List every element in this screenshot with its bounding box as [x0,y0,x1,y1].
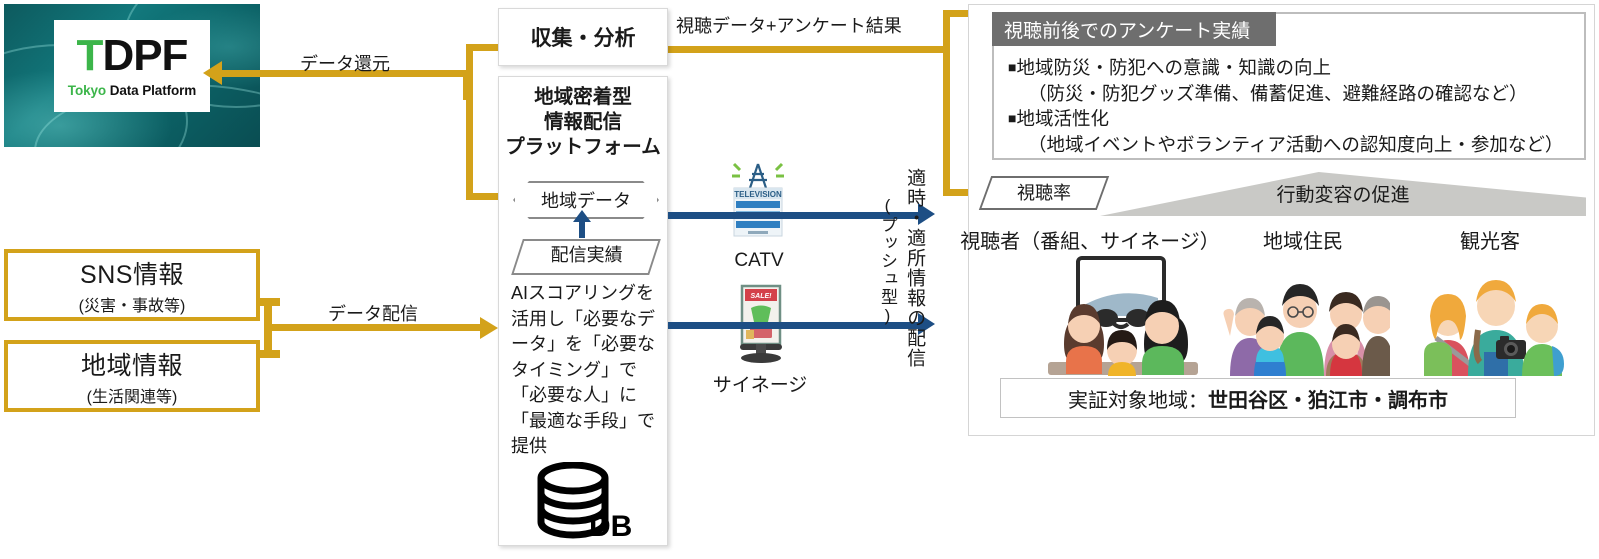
sns-information-box: SNS情報 (災害・事故等) [4,249,260,321]
tourists-illustration [1416,268,1568,378]
target-area-prefix: 実証対象地域： [1068,384,1208,413]
source-bracket-top [260,298,280,306]
survey-bullet-2-detail: （地域イベントやボランティア活動への認知度向上・参加など） [1008,133,1576,158]
push-paren-text: (プッシュ型) [878,196,896,326]
catv-icon: TELEVISION [722,158,794,244]
tdpf-wordmark: TDPF [77,34,188,78]
data-distribution-arrowhead [480,317,498,339]
tourists-group-label: 観光客 [1420,225,1560,254]
data-return-label: データ還元 [300,50,390,76]
platform-title: 地域密着型 情報配信 プラットフォーム [499,85,667,160]
survey-bullet-1-head: ■地域防災・防犯への意識・知識の向上 [1008,56,1576,81]
catv-label: CATV [700,250,818,272]
sns-information-subtitle: (災害・事故等) [79,292,186,316]
data-return-corner [463,70,470,100]
platform-title-line-2: 情報配信 [499,110,667,135]
collect-analyze-box: 収集・分析 [498,8,668,66]
platform-box: 地域密着型 情報配信 プラットフォーム 地域データ 配信実績 AIスコアリングを… [498,76,668,546]
database-icon: DB [529,462,641,540]
survey-results-box: 視聴前後でのアンケート実績 ■地域防災・防犯への意識・知識の向上 （防災・防犯グ… [992,12,1586,160]
source-bracket-bottom [260,350,280,358]
target-area-value: 世田谷区・狛江市・調布市 [1208,384,1448,413]
viewing-data-line [662,46,950,53]
tdpf-letters-dpf: DPF [102,31,187,80]
platform-title-line-1: 地域密着型 [499,85,667,110]
tdpf-subtitle-tokyo: Tokyo [68,83,106,98]
push-type-text-block: 適時・適所情報の配信 (プッシュ型) [874,168,938,400]
ai-scoring-text: AIスコアリングを活用し「必要なデータ」を「必要なタイミング」で「必要な人」に「… [511,281,655,460]
survey-tag-label: 視聴前後でのアンケート実績 [992,12,1276,46]
tdpf-letter-t: T [77,31,103,80]
regional-information-box: 地域情報 (生活関連等) [4,340,260,412]
target-area-box: 実証対象地域：世田谷区・狛江市・調布市 [1000,378,1516,418]
tdpf-logo-card: TDPF Tokyo Data Platform [54,20,210,112]
viewing-data-vertical [943,46,950,196]
behavior-change-banner: 行動変容の促進 [1100,172,1586,216]
viewing-data-label: 視聴データ+アンケート結果 [676,12,902,38]
survey-bullets: ■地域防災・防犯への意識・知識の向上 （防災・防犯グッズ準備、備蓄促進、避難経路… [1008,56,1576,158]
tdpf-subtitle: Tokyo Data Platform [68,83,196,98]
collect-analyze-label: 収集・分析 [531,22,636,52]
survey-bullet-2-head: ■地域活性化 [1008,107,1576,132]
push-main-text: 適時・適所情報の配信 [904,168,924,368]
survey-bullet-1-text: 地域防災・防犯への意識・知識の向上 [1016,57,1331,78]
viewers-illustration [1026,252,1216,378]
behavior-change-label: 行動変容の促進 [1100,180,1586,207]
regional-information-title: 地域情報 [81,346,183,382]
delivery-record-parallelogram: 配信実績 [511,239,661,275]
tdpf-subtitle-dataplatform: Data Platform [106,83,196,98]
platform-title-line-3: プラットフォーム [499,135,667,160]
signage-label: サイネージ [690,370,830,397]
data-distribution-label: データ配信 [328,300,418,326]
data-return-arrowhead [203,61,222,85]
survey-bullet-1-detail: （防災・防犯グッズ準備、備蓄促進、避難経路の確認など） [1008,82,1576,107]
survey-bullet-2-text: 地域活性化 [1016,108,1109,129]
data-return-segment-mid [466,193,500,200]
viewing-rate-parallelogram: 視聴率 [979,176,1109,210]
database-label: DB [589,510,632,540]
regional-information-subtitle: (生活関連等) [87,383,178,407]
local-residents-group-label: 地域住民 [1228,225,1378,254]
delivery-record-label: 配信実績 [520,241,654,269]
diagram-canvas: TDPF Tokyo Data Platform SNS情報 (災害・事故等) … [0,0,1599,559]
viewing-rate-label: 視聴率 [987,178,1101,208]
data-return-segment-vertical [466,44,473,200]
delivery-record-arrow-head [573,210,591,222]
viewers-group-label: 視聴者（番組、サイネージ） [960,225,1220,254]
local-residents-illustration [1222,258,1390,378]
catv-screen-text: TELEVISION [734,190,782,199]
sns-information-title: SNS情報 [80,255,184,291]
signage-screen-text: SALE! [751,293,773,300]
